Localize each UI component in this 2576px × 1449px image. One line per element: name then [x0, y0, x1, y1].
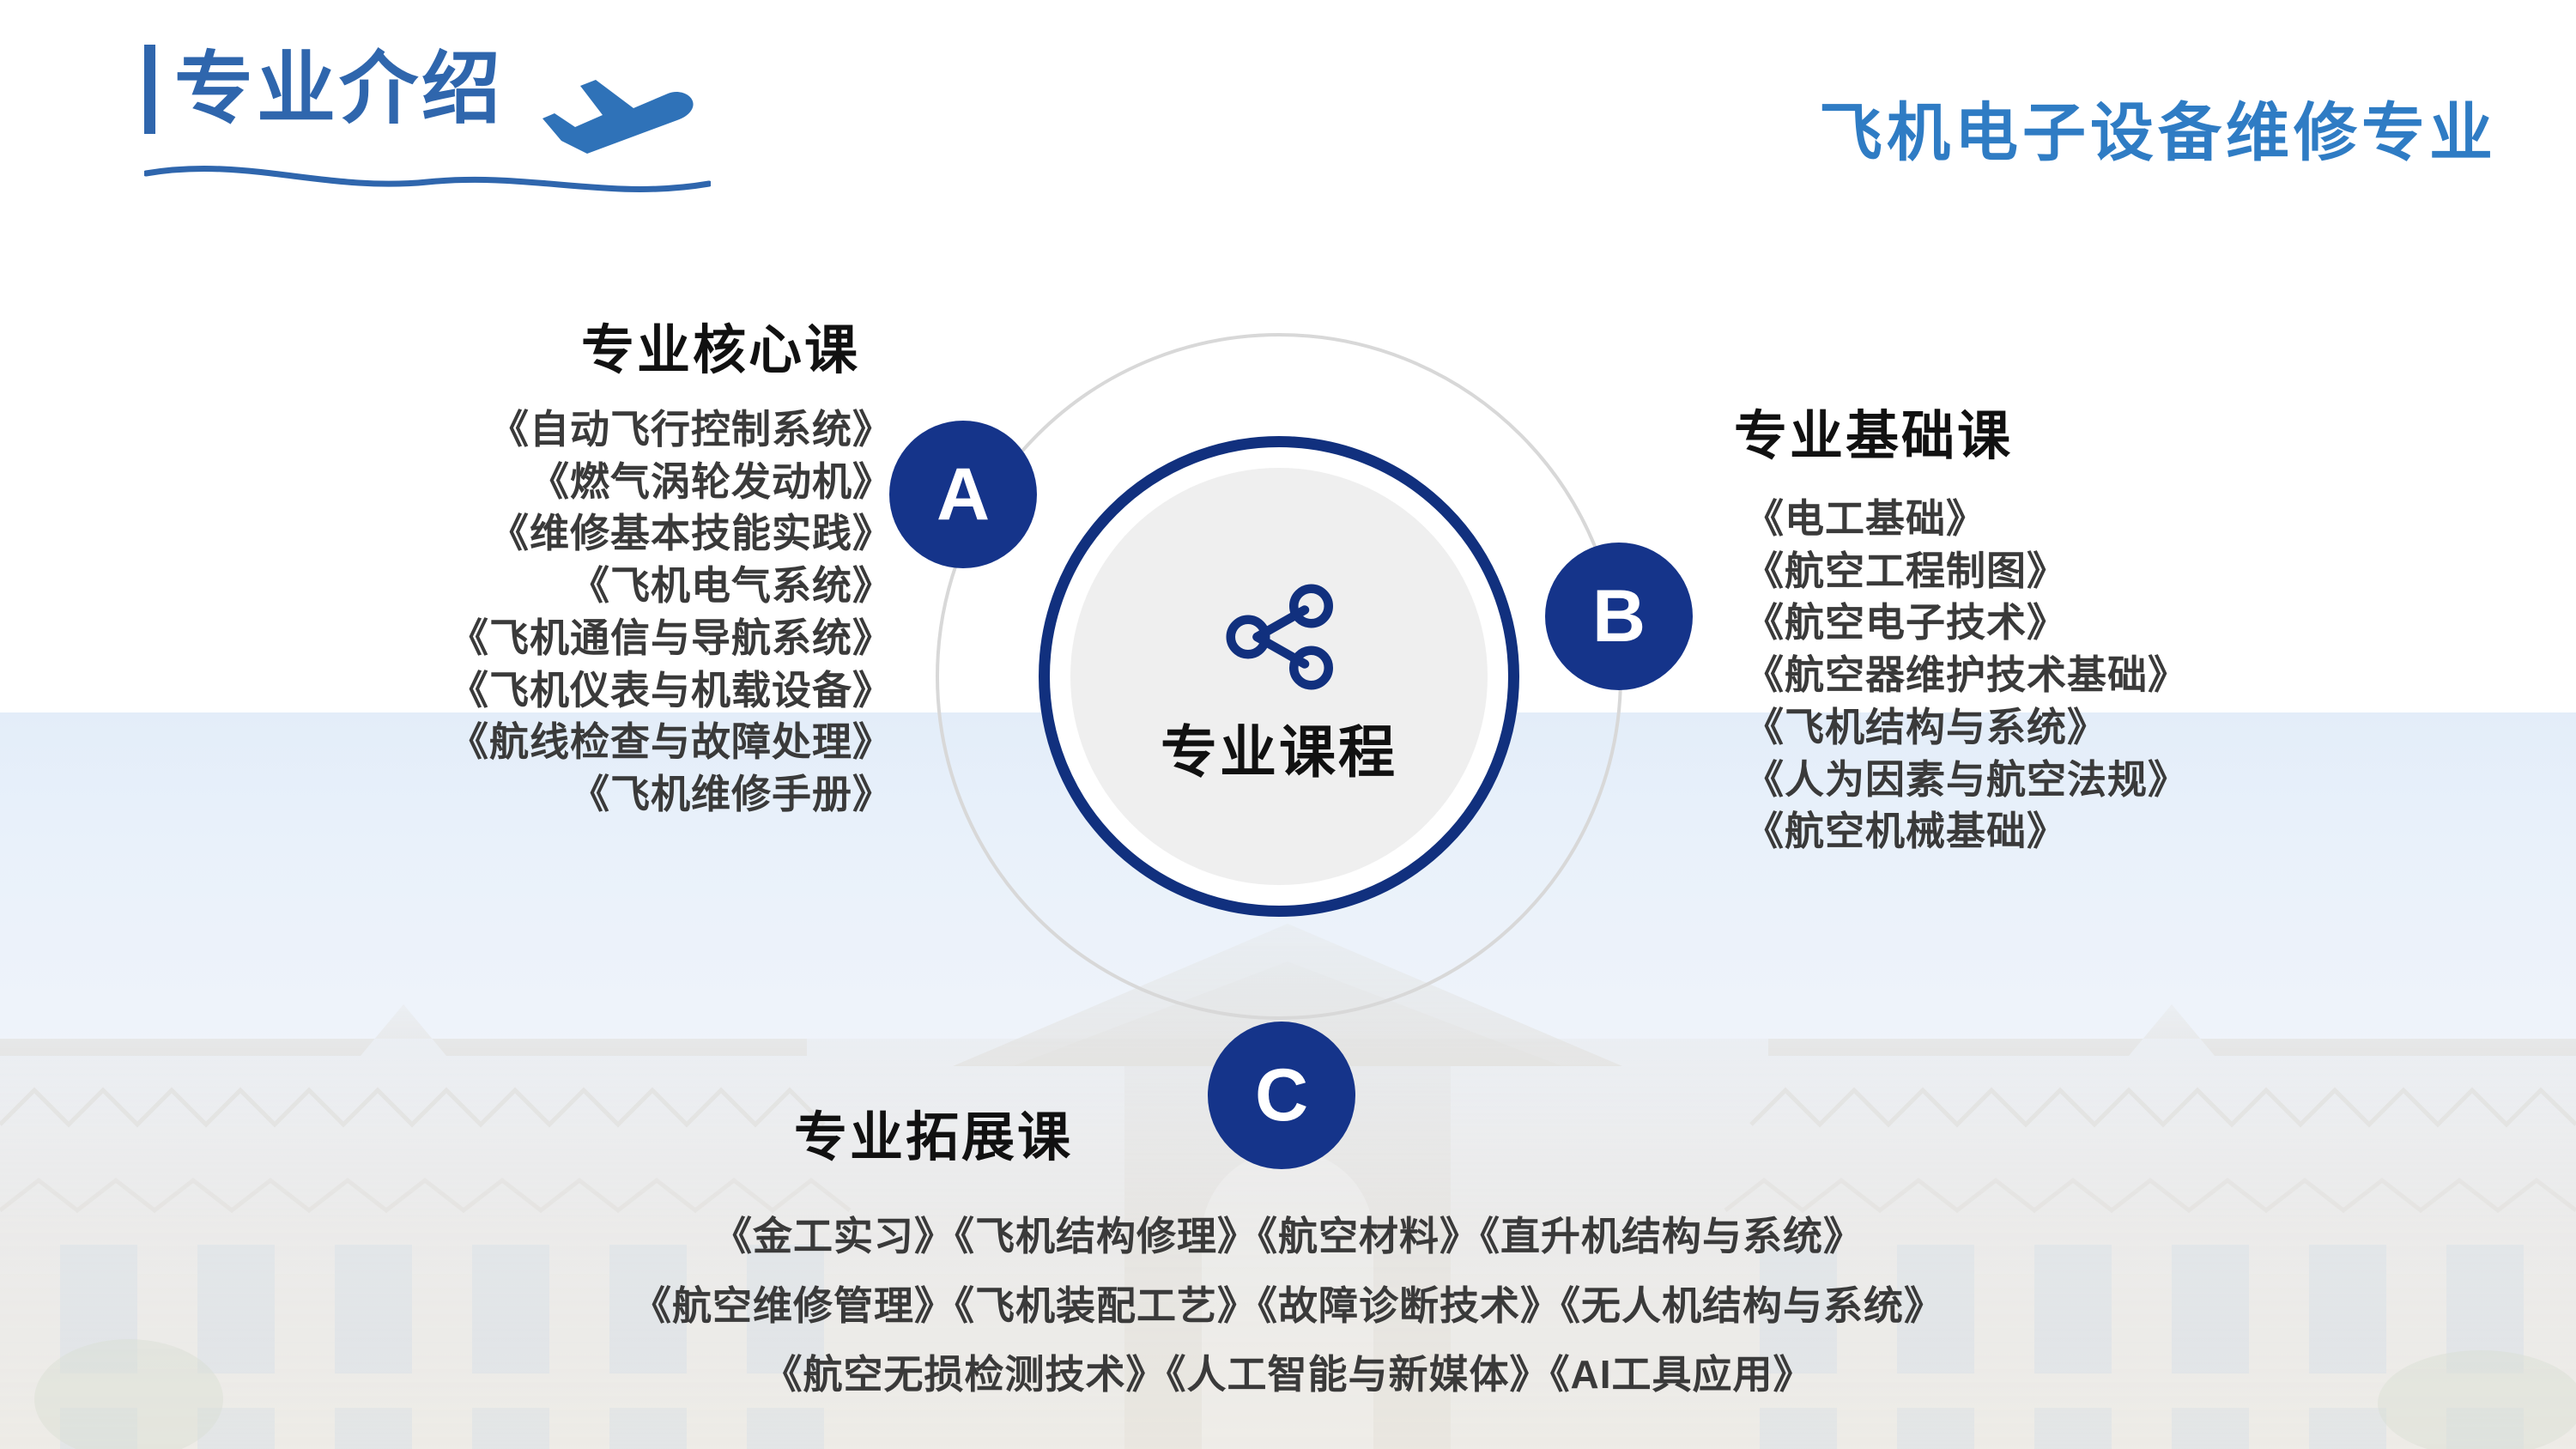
section-label-group: 专业介绍 — [144, 45, 504, 134]
group-core-courses: 专业核心课 《自动飞行控制系统》 《燃气涡轮发动机》 《维修基本技能实践》 《飞… — [361, 324, 893, 821]
course-row: 《金工实习》《飞机结构修理》《航空材料》《直升机结构与系统》 — [0, 1202, 2576, 1271]
badge-b[interactable]: B — [1545, 543, 1693, 690]
course-row: 《航空维修管理》《飞机装配工艺》《故障诊断技术》《无人机结构与系统》 — [0, 1271, 2576, 1341]
program-title: 飞机电子设备维修专业 — [1819, 101, 2497, 165]
course-row: 《航空无损检测技术》《人工智能与新媒体》《AI工具应用》 — [0, 1340, 2576, 1410]
center-node[interactable]: 专业课程 — [1070, 468, 1488, 885]
course-item: 《飞机维修手册》 — [361, 768, 893, 821]
group-title-basic: 专业基础课 — [1734, 410, 2266, 464]
course-item: 《人为因素与航空法规》 — [1744, 754, 2266, 806]
accent-bar — [144, 45, 155, 134]
course-item: 《航空电子技术》 — [1744, 597, 2266, 649]
wave-underline — [144, 153, 711, 213]
course-item: 《飞机结构与系统》 — [1744, 701, 2266, 754]
course-item: 《电工基础》 — [1744, 493, 2266, 545]
course-item: 《自动飞行控制系统》 — [361, 403, 893, 456]
course-item: 《航空机械基础》 — [1744, 805, 2266, 858]
badge-a[interactable]: A — [889, 421, 1037, 568]
group-title-core: 专业核心课 — [361, 324, 860, 378]
center-label: 专业课程 — [1161, 724, 1397, 780]
course-item: 《飞机仪表与机载设备》 — [361, 664, 893, 717]
course-item: 《燃气涡轮发动机》 — [361, 456, 893, 508]
slide-header: 专业介绍 飞机电子设备维修专业 — [0, 0, 2576, 232]
course-item: 《航线检查与故障处理》 — [361, 716, 893, 768]
course-item: 《飞机电气系统》 — [361, 560, 893, 612]
section-label: 专业介绍 — [174, 50, 504, 129]
group-extension-courses: 《金工实习》《飞机结构修理》《航空材料》《直升机结构与系统》 《航空维修管理》《… — [0, 1202, 2576, 1410]
course-item: 《航空器维护技术基础》 — [1744, 649, 2266, 701]
group-basic-courses: 专业基础课 《电工基础》 《航空工程制图》 《航空电子技术》 《航空器维护技术基… — [1734, 410, 2266, 858]
slide-canvas: 专业介绍 飞机电子设备维修专业 — [0, 0, 2576, 1449]
course-item: 《飞机通信与导航系统》 — [361, 612, 893, 664]
share-network-icon — [1215, 573, 1343, 701]
badge-c[interactable]: C — [1208, 1022, 1355, 1169]
group-title-extension: 专业拓展课 — [794, 1112, 1073, 1165]
course-item: 《维修基本技能实践》 — [361, 507, 893, 560]
course-item: 《航空工程制图》 — [1744, 545, 2266, 597]
